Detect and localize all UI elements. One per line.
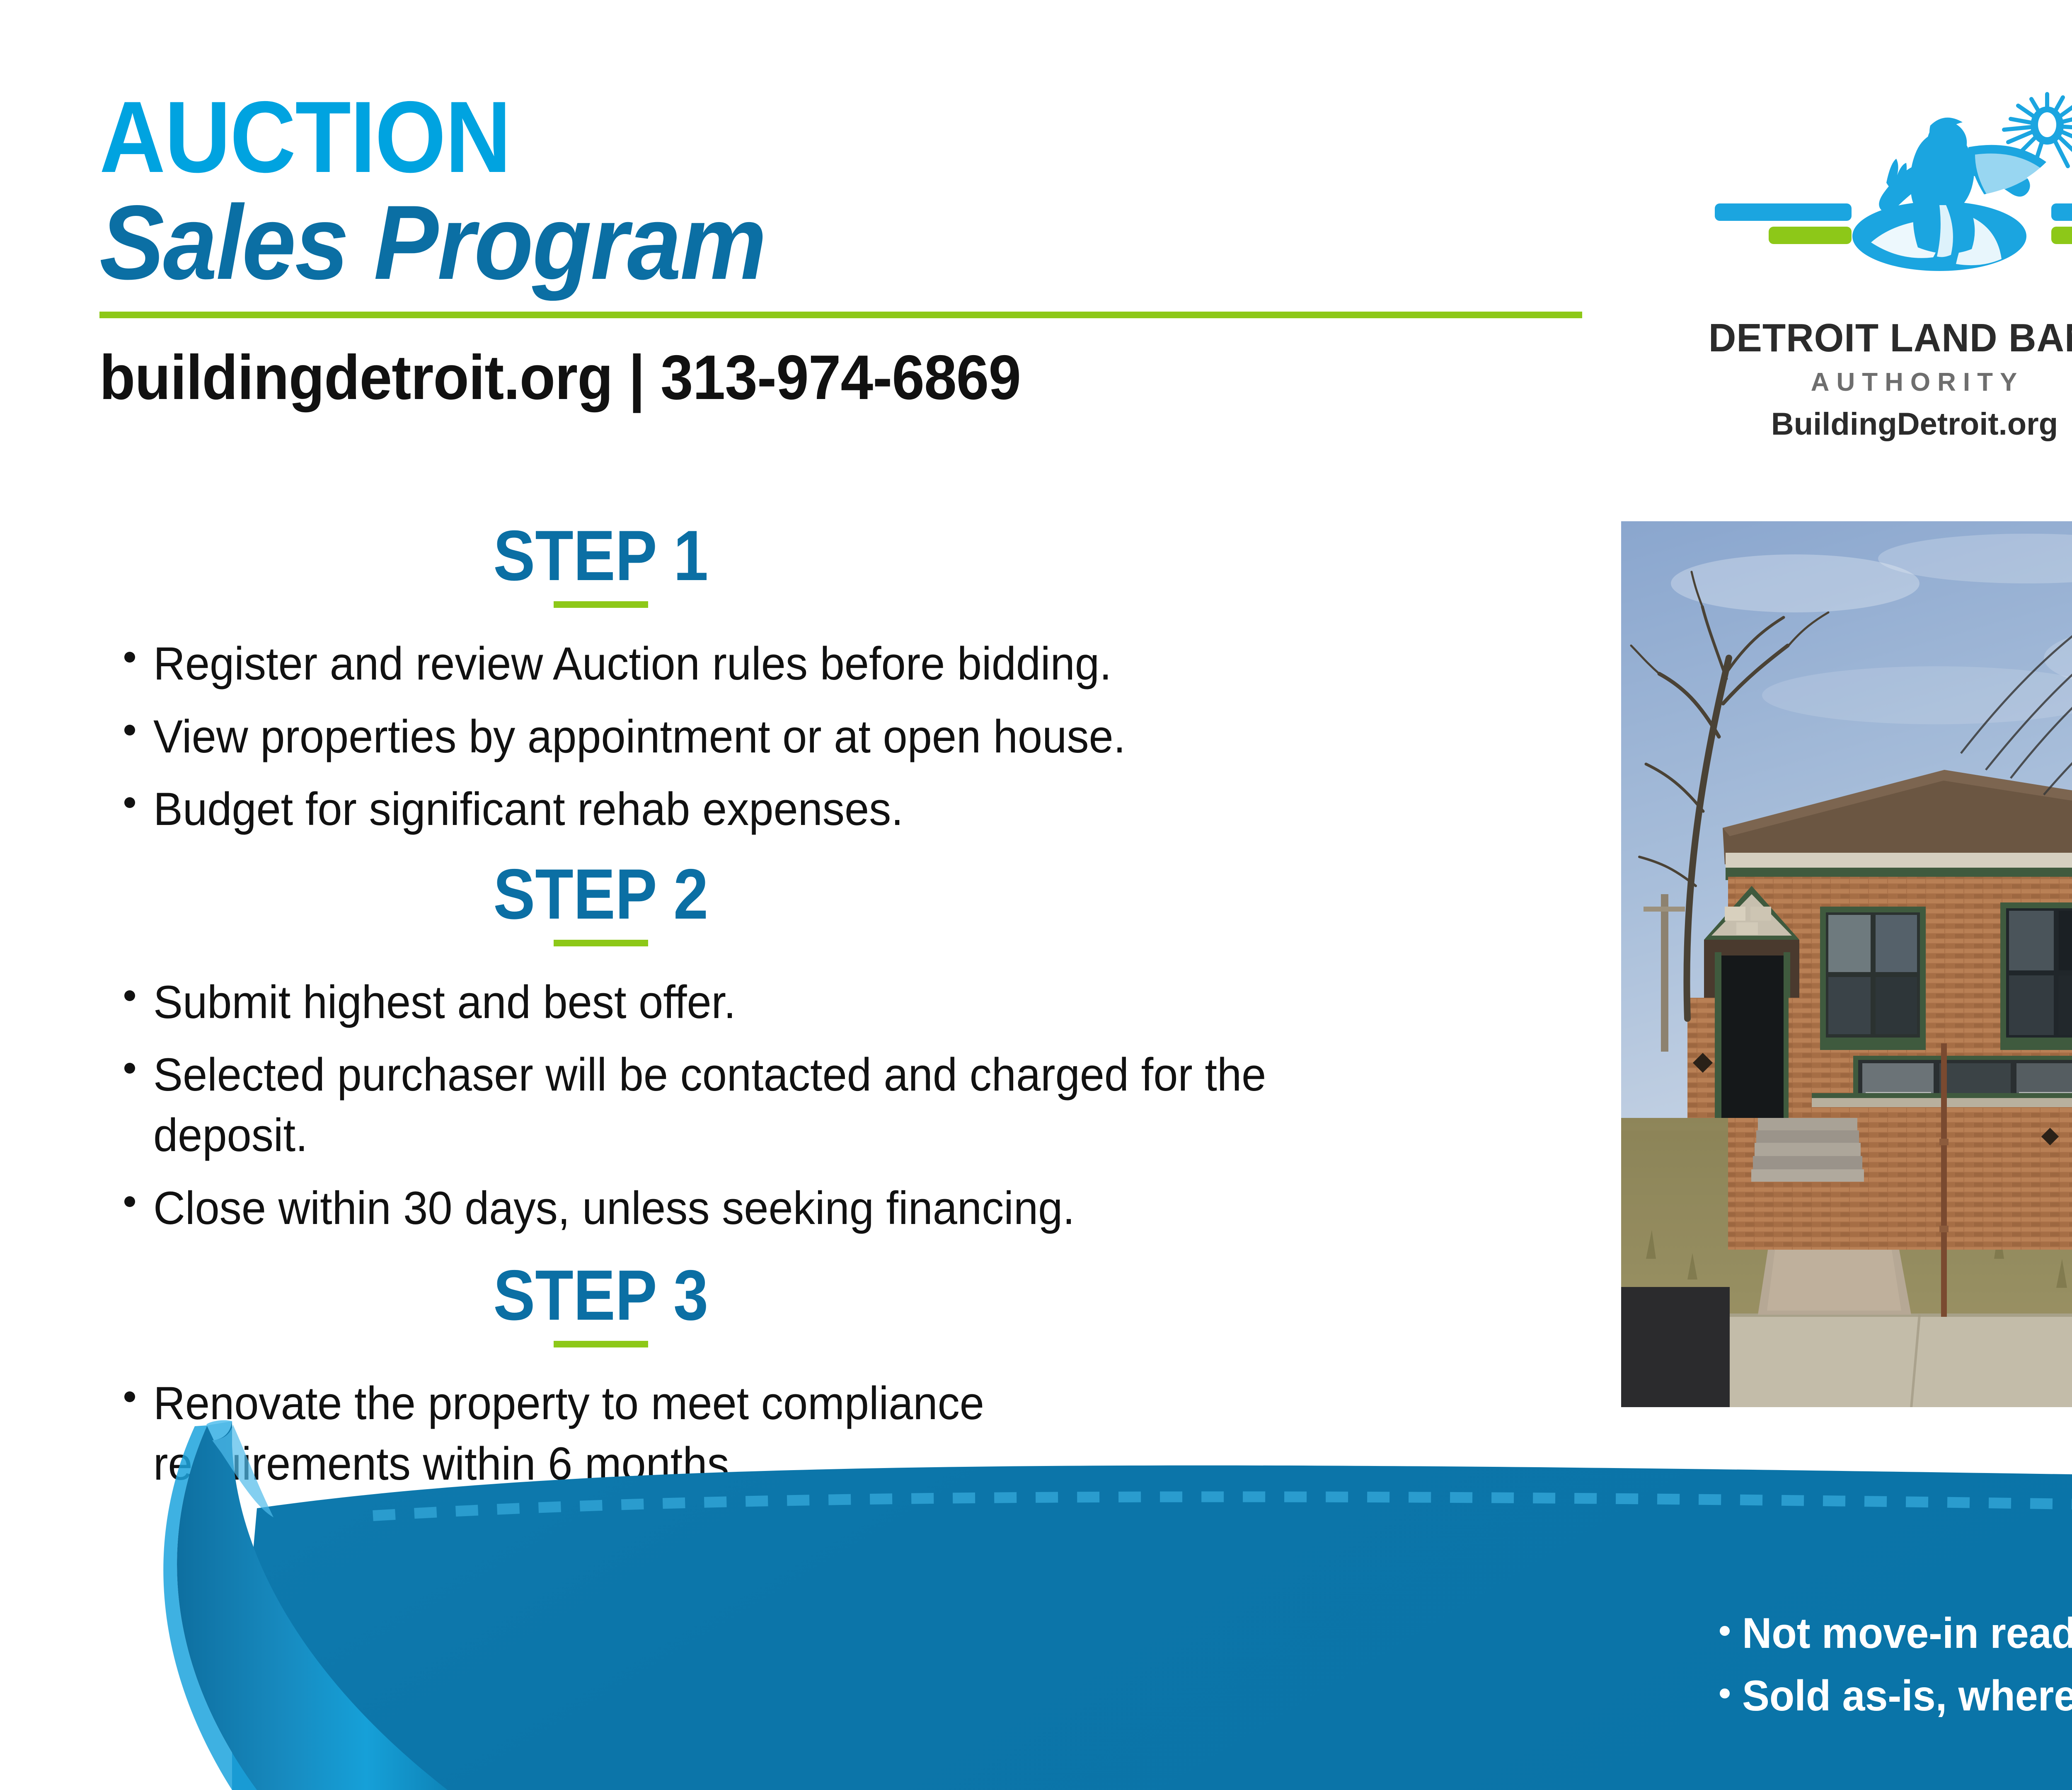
banner-bullet-text: Not move-in ready <box>1742 1608 2072 1659</box>
banner-bullets: Not move-in ready Sold as-is, where-is <box>1720 1608 2072 1733</box>
step-1-underline <box>554 601 648 608</box>
bullet-dot-icon <box>1720 1626 1730 1636</box>
bullet-text: Close within 30 days, unless seeking fin… <box>153 1178 1075 1238</box>
bullet-text: Selected purchaser will be contacted and… <box>153 1045 1295 1165</box>
bullet-text: Register and review Auction rules before… <box>153 634 1112 694</box>
page-title-sales-program: Sales Program <box>99 189 1472 297</box>
step-2-bullets: Submit highest and best offer. Selected … <box>124 972 1471 1238</box>
bullet-text: Submit highest and best offer. <box>153 972 736 1033</box>
list-item: Not move-in ready <box>1720 1608 2072 1659</box>
step-section-1: STEP 1 Register and review Auction rules… <box>124 520 1471 839</box>
step-2-heading-wrap: STEP 2 <box>124 859 1077 946</box>
bullet-dot-icon <box>124 797 135 808</box>
bullet-text: View properties by appointment or at ope… <box>153 706 1126 767</box>
step-section-3: STEP 3 Renovate the property to meet com… <box>124 1260 1471 1494</box>
detroit-land-bank-logo: DETROIT LAND BANK AUTHORITY BuildingDetr… <box>1682 81 2072 442</box>
list-item: Close within 30 days, unless seeking fin… <box>124 1178 1471 1238</box>
bullet-dot-icon <box>1720 1688 1730 1698</box>
step-1-heading: STEP 1 <box>494 520 709 591</box>
bullet-dot-icon <box>124 1196 135 1207</box>
bullet-dot-icon <box>124 1063 135 1074</box>
page-title-auction: AUCTION <box>99 87 1442 186</box>
list-item: Selected purchaser will be contacted and… <box>124 1045 1471 1165</box>
bullet-text: Renovate the property to meet compliance… <box>153 1373 1130 1494</box>
logo-subtitle: AUTHORITY <box>1682 368 2072 397</box>
step-2-heading: STEP 2 <box>494 859 709 930</box>
property-photo <box>1621 521 2072 1407</box>
step-3-heading-wrap: STEP 3 <box>124 1260 1077 1347</box>
title-divider-rule <box>99 312 1582 318</box>
step-1-heading-wrap: STEP 1 <box>124 520 1077 608</box>
contact-line[interactable]: buildingdetroit.org | 313-974-6869 <box>99 341 1487 414</box>
spirit-of-detroit-icon <box>1682 81 2072 313</box>
step-2-underline <box>554 940 648 946</box>
bullet-dot-icon <box>124 1391 135 1402</box>
bullet-text: Budget for significant rehab expenses. <box>153 779 903 839</box>
banner-bullet-text: Sold as-is, where-is <box>1742 1670 2072 1722</box>
bullet-dot-icon <box>124 725 135 735</box>
list-item: Register and review Auction rules before… <box>124 634 1471 694</box>
step-3-bullets: Renovate the property to meet compliance… <box>124 1373 1471 1494</box>
list-item: Budget for significant rehab expenses. <box>124 779 1471 839</box>
list-item: View properties by appointment or at ope… <box>124 706 1471 767</box>
list-item: Submit highest and best offer. <box>124 972 1471 1033</box>
steps-list: STEP 1 Register and review Auction rules… <box>124 520 1471 1506</box>
step-3-heading: STEP 3 <box>494 1260 709 1331</box>
list-item: Sold as-is, where-is <box>1720 1670 2072 1722</box>
step-section-2: STEP 2 Submit highest and best offer. Se… <box>124 859 1471 1238</box>
logo-url[interactable]: BuildingDetroit.org <box>1682 406 2072 442</box>
bullet-dot-icon <box>124 990 135 1001</box>
list-item: Renovate the property to meet compliance… <box>124 1373 1471 1494</box>
header: AUCTION Sales Program buildingdetroit.or… <box>99 87 1591 414</box>
step-3-underline <box>554 1341 648 1347</box>
step-1-bullets: Register and review Auction rules before… <box>124 634 1471 839</box>
logo-name: DETROIT LAND BANK <box>1692 315 2072 361</box>
bullet-dot-icon <box>124 652 135 663</box>
